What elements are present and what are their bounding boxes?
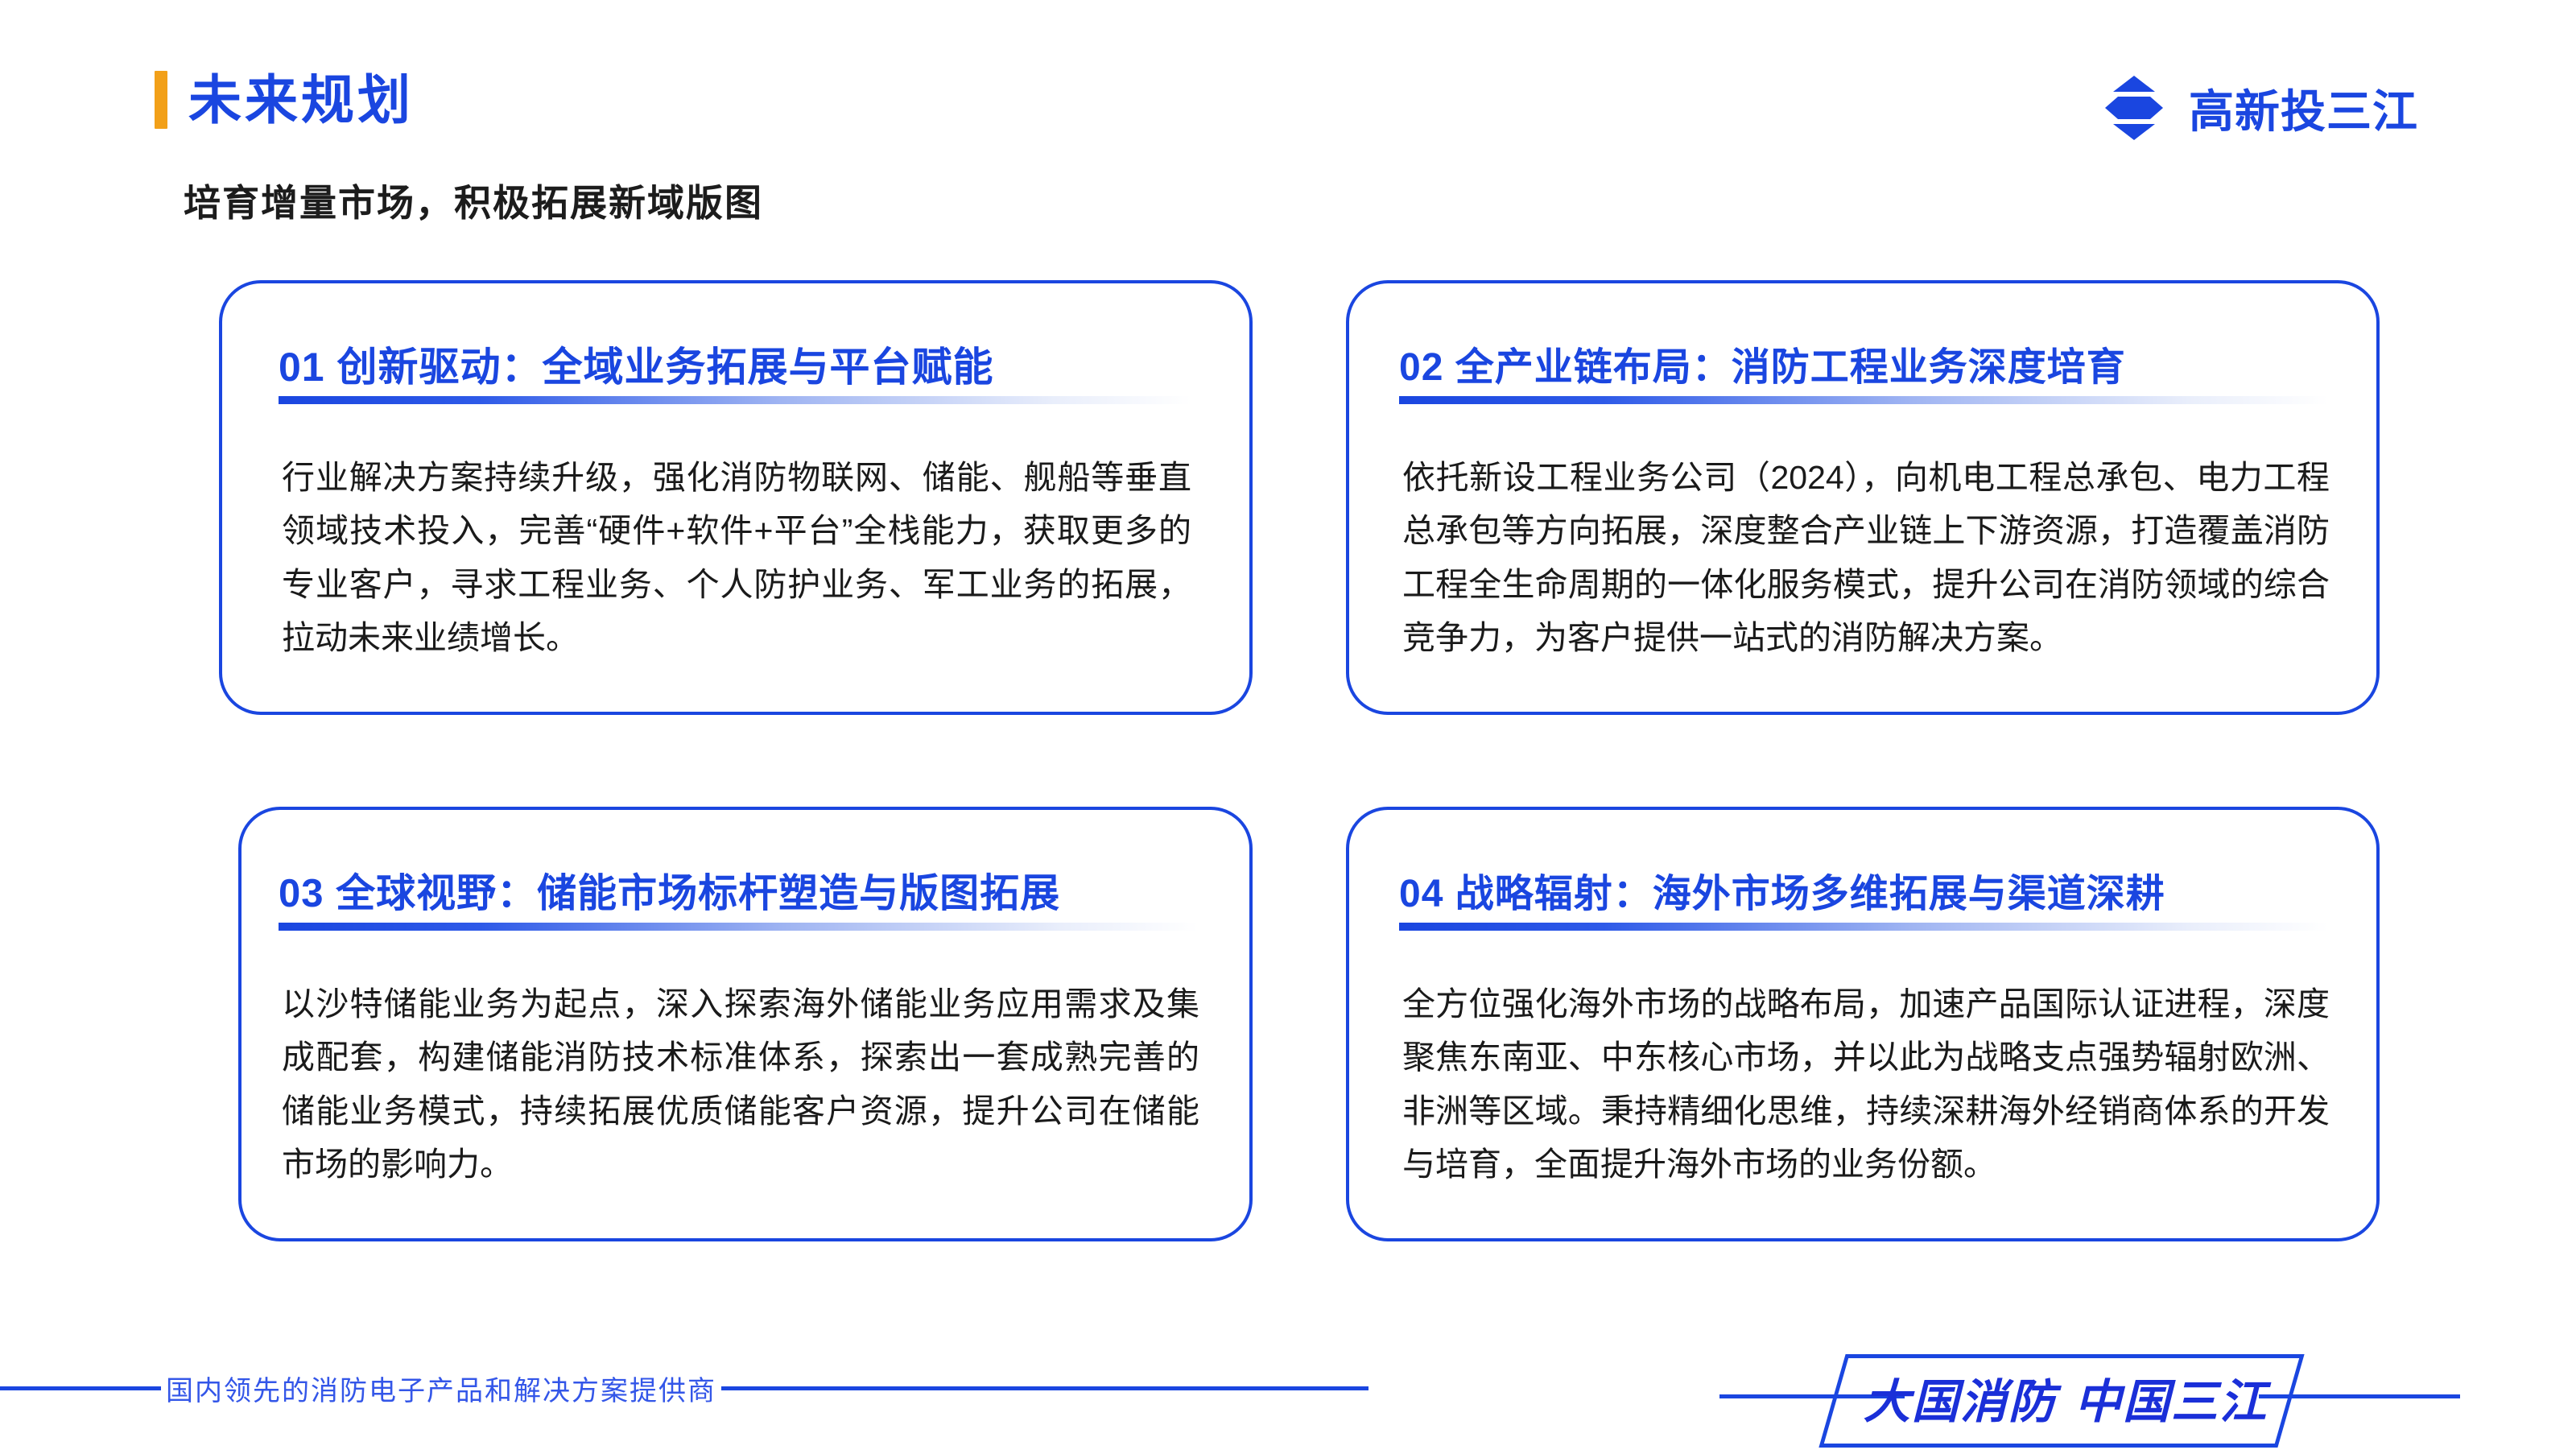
diamond-arrows-logo-icon [2100,74,2168,142]
strategy-card-04: 04 战略辐射：海外市场多维拓展与渠道深耕 全方位强化海外市场的战略布局，加速产… [1346,807,2380,1241]
page-subtitle: 培育增量市场，积极拓展新域版图 [184,174,763,227]
footer-tagline-group: 国内领先的消防电子产品和解决方案提供商 [0,1369,1368,1408]
card-body: 行业解决方案持续升级，强化消防物联网、储能、舰船等垂直领域技术投入，完善“硬件+… [282,451,1191,665]
footer-rule-middle [721,1386,1368,1390]
strategy-card-02: 02 全产业链布局：消防工程业务深度培育 依托新设工程业务公司（2024），向机… [1346,280,2380,715]
card-title: 02 全产业链布局：消防工程业务深度培育 [1399,335,2347,391]
footer-rule-badge-right [2259,1394,2460,1398]
page-title: 未来规划 [188,73,414,126]
card-title: 03 全球视野：储能市场标杆塑造与版图拓展 [279,861,1220,919]
card-body: 依托新设工程业务公司（2024），向机电工程总承包、电力工程总承包等方向拓展，深… [1402,451,2330,665]
card-body: 以沙特储能业务为起点，深入探索海外储能业务应用需求及集成配套，构建储能消防技术标… [282,977,1199,1192]
strategy-card-01: 01 创新驱动：全域业务拓展与平台赋能 行业解决方案持续升级，强化消防物联网、储… [219,280,1253,715]
card-divider [1399,396,2328,404]
card-body: 全方位强化海外市场的战略布局，加速产品国际认证进程，深度聚焦东南亚、中东核心市场… [1402,977,2330,1192]
card-divider [279,923,1198,931]
title-accent-bar [155,71,167,129]
page-title-row: 未来规划 [155,71,414,129]
card-divider [279,396,1191,404]
card-title: 04 战略辐射：海外市场多维拓展与渠道深耕 [1399,861,2347,918]
card-title: 01 创新驱动：全域业务拓展与平台赋能 [279,335,1220,393]
footer-rule-left [0,1386,161,1390]
footer-brand-badge: 大国消防 中国三江 [1719,1341,2444,1454]
footer-badge-text: 大国消防 中国三江 [1856,1364,2275,1431]
brand-name: 高新投三江 [2189,76,2418,141]
card-divider [1399,923,2328,931]
page-footer: 国内领先的消防电子产品和解决方案提供商 大国消防 中国三江 [0,1369,2576,1449]
brand-logo: 高新投三江 [2100,74,2418,142]
footer-tagline: 国内领先的消防电子产品和解决方案提供商 [161,1369,721,1408]
strategy-card-03: 03 全球视野：储能市场标杆塑造与版图拓展 以沙特储能业务为起点，深入探索海外储… [238,807,1253,1241]
page-header: 未来规划 培育增量市场，积极拓展新域版图 高新投三江 [0,0,2576,242]
